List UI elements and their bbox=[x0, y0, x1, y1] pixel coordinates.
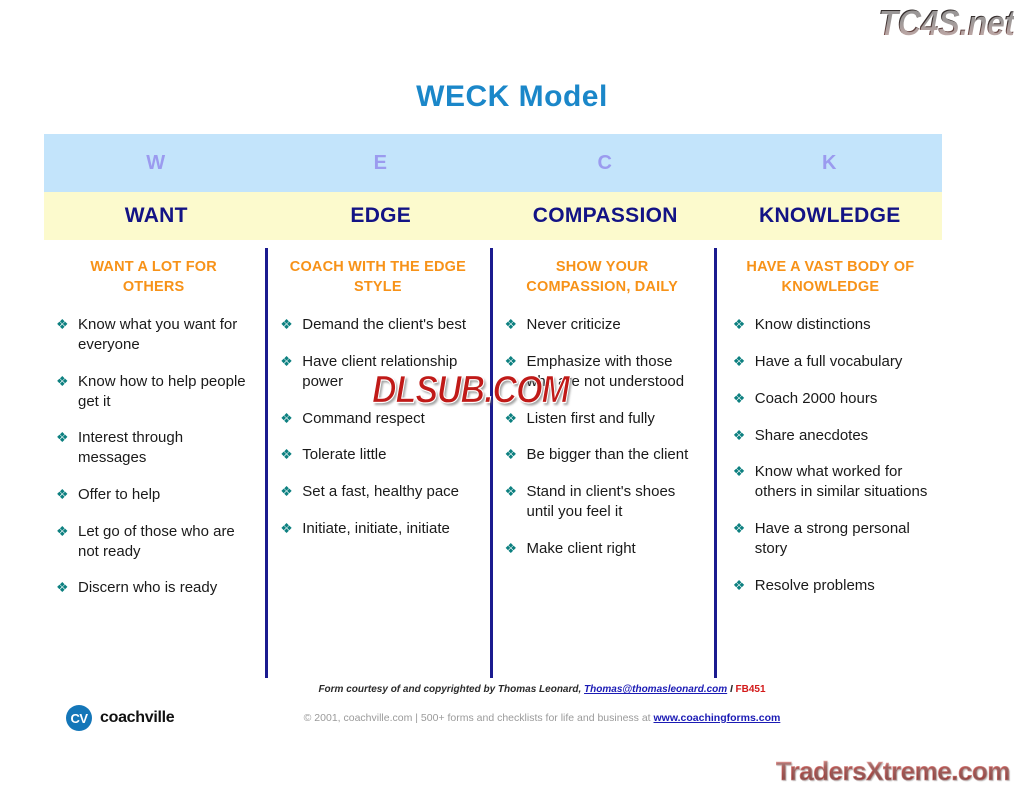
column-want: WANT A LOT FOR OTHERS ❖Know what you wan… bbox=[44, 248, 265, 678]
list-item: ❖Tolerate little bbox=[278, 445, 477, 465]
list-item: ❖Know distinctions bbox=[731, 315, 930, 335]
tc4s-site-logo: TC4S.net bbox=[878, 2, 1014, 44]
list-item: ❖Offer to help bbox=[54, 485, 253, 505]
list-item-text: Know how to help people get it bbox=[78, 373, 246, 410]
list-item-text: Interest through messages bbox=[78, 429, 183, 466]
list-item-text: Initiate, initiate, initiate bbox=[302, 520, 450, 537]
list-item-text: Know distinctions bbox=[755, 316, 871, 333]
coachville-wordmark: coachville bbox=[100, 709, 174, 727]
weck-header-table: W E C K WANT EDGE COMPASSION KNOWLEDGE bbox=[44, 134, 942, 240]
coachville-logo: CV coachville bbox=[66, 705, 174, 731]
list-item-text: Make client right bbox=[527, 540, 636, 557]
list-item-text: Know what you want for everyone bbox=[78, 316, 237, 353]
cv-badge-icon: CV bbox=[66, 705, 92, 731]
footer-coachingforms-link[interactable]: www.coachingforms.com bbox=[654, 712, 781, 724]
diamond-bullet-icon: ❖ bbox=[280, 519, 293, 538]
list-item: ❖Make client right bbox=[503, 539, 702, 559]
list-item: ❖Share anecdotes bbox=[731, 426, 930, 446]
diamond-bullet-icon: ❖ bbox=[733, 462, 746, 481]
diamond-bullet-icon: ❖ bbox=[280, 409, 293, 428]
list-item: ❖Know what worked for others in similar … bbox=[731, 462, 930, 502]
footer-credit-prefix: Form courtesy of and copyrighted by Thom… bbox=[318, 684, 584, 695]
column-edge: COACH WITH THE EDGE STYLE ❖Demand the cl… bbox=[265, 248, 489, 678]
list-item-text: Command respect bbox=[302, 410, 425, 427]
word-cell-compassion: COMPASSION bbox=[493, 192, 718, 240]
column-heading-compassion: SHOW YOUR COMPASSION, DAILY bbox=[507, 258, 698, 297]
footer-credit-separator: I bbox=[727, 684, 735, 695]
list-item: ❖Know how to help people get it bbox=[54, 372, 253, 412]
diamond-bullet-icon: ❖ bbox=[280, 315, 293, 334]
list-item-text: Have a strong personal story bbox=[755, 520, 910, 557]
list-item: ❖Know what you want for everyone bbox=[54, 315, 253, 355]
list-item-text: Let go of those who are not ready bbox=[78, 523, 235, 560]
list-item: ❖Command respect bbox=[278, 409, 477, 429]
diamond-bullet-icon: ❖ bbox=[280, 445, 293, 464]
column-compassion: SHOW YOUR COMPASSION, DAILY ❖Never criti… bbox=[490, 248, 714, 678]
list-item-text: Discern who is ready bbox=[78, 579, 217, 596]
list-item: ❖Have a strong personal story bbox=[731, 519, 930, 559]
list-item: ❖Never criticize bbox=[503, 315, 702, 335]
letter-cell-w: W bbox=[44, 134, 269, 192]
list-item: ❖Listen first and fully bbox=[503, 409, 702, 429]
diamond-bullet-icon: ❖ bbox=[280, 482, 293, 501]
list-item: ❖Have client relationship power bbox=[278, 352, 477, 392]
letters-row: W E C K bbox=[44, 134, 942, 192]
letter-cell-e: E bbox=[269, 134, 494, 192]
word-cell-knowledge: KNOWLEDGE bbox=[718, 192, 943, 240]
list-item-text: Listen first and fully bbox=[527, 410, 655, 427]
footer-credit-email-link[interactable]: Thomas@thomasleonard.com bbox=[584, 684, 727, 695]
list-item-text: Be bigger than the client bbox=[527, 446, 689, 463]
item-list-knowledge: ❖Know distinctions ❖Have a full vocabula… bbox=[731, 315, 930, 595]
list-item-text: Resolve problems bbox=[755, 577, 875, 594]
diamond-bullet-icon: ❖ bbox=[505, 445, 518, 464]
diamond-bullet-icon: ❖ bbox=[505, 315, 518, 334]
column-knowledge: HAVE A VAST BODY OF KNOWLEDGE ❖Know dist… bbox=[714, 248, 942, 678]
diamond-bullet-icon: ❖ bbox=[733, 426, 746, 445]
footer-credit-line: Form courtesy of and copyrighted by Thom… bbox=[0, 684, 1024, 695]
list-item-text: Have client relationship power bbox=[302, 353, 457, 390]
diamond-bullet-icon: ❖ bbox=[56, 485, 69, 504]
list-item-text: Coach 2000 hours bbox=[755, 390, 878, 407]
diamond-bullet-icon: ❖ bbox=[56, 578, 69, 597]
diamond-bullet-icon: ❖ bbox=[280, 352, 293, 371]
item-list-edge: ❖Demand the client's best ❖Have client r… bbox=[278, 315, 477, 539]
diamond-bullet-icon: ❖ bbox=[56, 372, 69, 391]
diamond-bullet-icon: ❖ bbox=[56, 522, 69, 541]
list-item: ❖Let go of those who are not ready bbox=[54, 522, 253, 562]
tradersxtreme-watermark: TradersXtreme.com bbox=[776, 756, 1010, 787]
list-item: ❖Emphasize with those who are not unders… bbox=[503, 352, 702, 392]
column-heading-knowledge: HAVE A VAST BODY OF KNOWLEDGE bbox=[735, 258, 926, 297]
diamond-bullet-icon: ❖ bbox=[56, 428, 69, 447]
item-list-want: ❖Know what you want for everyone ❖Know h… bbox=[54, 315, 253, 598]
list-item-text: Never criticize bbox=[527, 316, 621, 333]
list-item: ❖Discern who is ready bbox=[54, 578, 253, 598]
list-item-text: Know what worked for others in similar s… bbox=[755, 463, 928, 500]
list-item: ❖Have a full vocabulary bbox=[731, 352, 930, 372]
diamond-bullet-icon: ❖ bbox=[56, 315, 69, 334]
content-columns: WANT A LOT FOR OTHERS ❖Know what you wan… bbox=[44, 248, 942, 678]
list-item-text: Emphasize with those who are not underst… bbox=[527, 353, 685, 390]
list-item-text: Stand in client's shoes until you feel i… bbox=[527, 483, 676, 520]
list-item: ❖Initiate, initiate, initiate bbox=[278, 519, 477, 539]
footer-form-code: FB451 bbox=[736, 684, 766, 695]
page-title: WECK Model bbox=[0, 80, 1024, 114]
diamond-bullet-icon: ❖ bbox=[733, 315, 746, 334]
diamond-bullet-icon: ❖ bbox=[733, 389, 746, 408]
list-item-text: Tolerate little bbox=[302, 446, 386, 463]
footer-copyright-prefix: © 2001, coachville.com | 500+ forms and … bbox=[304, 712, 654, 724]
letter-cell-k: K bbox=[718, 134, 943, 192]
column-heading-edge: COACH WITH THE EDGE STYLE bbox=[282, 258, 473, 297]
diamond-bullet-icon: ❖ bbox=[733, 576, 746, 595]
words-row: WANT EDGE COMPASSION KNOWLEDGE bbox=[44, 192, 942, 240]
list-item: ❖Demand the client's best bbox=[278, 315, 477, 335]
diamond-bullet-icon: ❖ bbox=[733, 519, 746, 538]
item-list-compassion: ❖Never criticize ❖Emphasize with those w… bbox=[503, 315, 702, 558]
column-heading-want: WANT A LOT FOR OTHERS bbox=[58, 258, 249, 297]
list-item-text: Offer to help bbox=[78, 486, 160, 503]
word-cell-want: WANT bbox=[44, 192, 269, 240]
list-item: ❖Stand in client's shoes until you feel … bbox=[503, 482, 702, 522]
diamond-bullet-icon: ❖ bbox=[505, 539, 518, 558]
diamond-bullet-icon: ❖ bbox=[505, 409, 518, 428]
list-item: ❖Interest through messages bbox=[54, 428, 253, 468]
list-item-text: Set a fast, healthy pace bbox=[302, 483, 459, 500]
diamond-bullet-icon: ❖ bbox=[733, 352, 746, 371]
list-item: ❖Be bigger than the client bbox=[503, 445, 702, 465]
word-cell-edge: EDGE bbox=[269, 192, 494, 240]
list-item-text: Demand the client's best bbox=[302, 316, 466, 333]
diamond-bullet-icon: ❖ bbox=[505, 352, 518, 371]
list-item-text: Have a full vocabulary bbox=[755, 353, 903, 370]
letter-cell-c: C bbox=[493, 134, 718, 192]
list-item: ❖Set a fast, healthy pace bbox=[278, 482, 477, 502]
list-item-text: Share anecdotes bbox=[755, 427, 868, 444]
diamond-bullet-icon: ❖ bbox=[505, 482, 518, 501]
list-item: ❖Coach 2000 hours bbox=[731, 389, 930, 409]
list-item: ❖Resolve problems bbox=[731, 576, 930, 596]
